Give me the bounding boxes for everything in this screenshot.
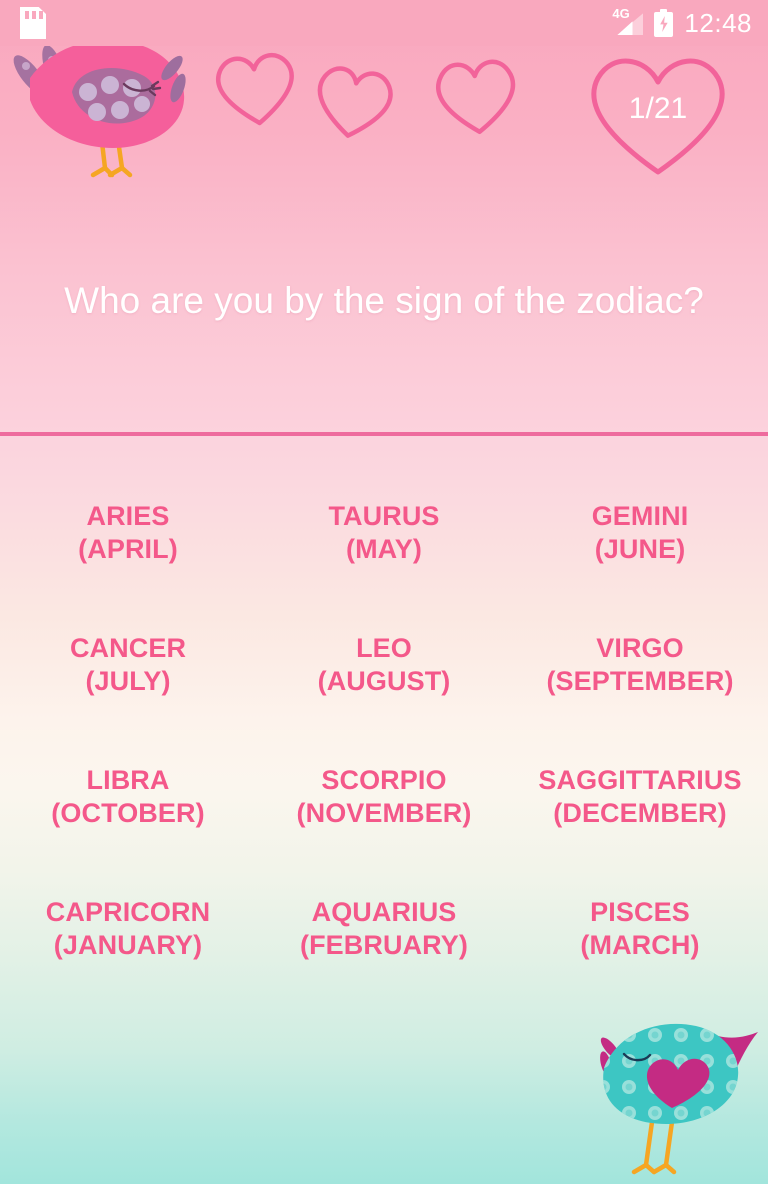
option-aries[interactable]: ARIES (APRIL) [0,500,256,566]
teal-bird-illustration [568,1000,764,1184]
option-gemini[interactable]: GEMINI (JUNE) [512,500,768,566]
status-bar-clock: 12:48 [684,10,752,36]
option-name: CANCER [6,632,250,665]
option-month: (JANUARY) [6,929,250,962]
question-title: Who are you by the sign of the zodiac? [0,275,768,327]
pink-bird-illustration [8,40,189,175]
option-name: CAPRICORN [6,896,250,929]
option-name: PISCES [518,896,762,929]
option-name: ARIES [6,500,250,533]
question-counter: 1/21 [584,92,732,126]
option-name: LEO [262,632,506,665]
option-month: (MAY) [262,533,506,566]
option-month: (JULY) [6,665,250,698]
heart-outline-icon [436,60,517,135]
option-name: GEMINI [518,500,762,533]
option-name: AQUARIUS [262,896,506,929]
option-virgo[interactable]: VIRGO (SEPTEMBER) [512,632,768,698]
option-leo[interactable]: LEO (AUGUST) [256,632,512,698]
option-month: (NOVEMBER) [262,797,506,830]
status-bar: 4G 12:48 [0,0,768,46]
signal-bars-icon: 4G [613,9,643,37]
option-aquarius[interactable]: AQUARIUS (FEBRUARY) [256,896,512,962]
option-name: TAURUS [262,500,506,533]
option-taurus[interactable]: TAURUS (MAY) [256,500,512,566]
option-name: SAGGITTARIUS [518,764,762,797]
network-type-label: 4G [612,7,629,20]
answer-options-grid: ARIES (APRIL) TAURUS (MAY) GEMINI (JUNE)… [0,500,768,962]
status-bar-right-cluster: 4G 12:48 [613,9,752,37]
option-month: (OCTOBER) [6,797,250,830]
option-cancer[interactable]: CANCER (JULY) [0,632,256,698]
heart-outline-icon [216,53,296,127]
option-scorpio[interactable]: SCORPIO (NOVEMBER) [256,764,512,830]
option-month: (MARCH) [518,929,762,962]
option-saggittarius[interactable]: SAGGITTARIUS (DECEMBER) [512,764,768,830]
heart-outline-icon [313,66,393,142]
answer-options-panel: ARIES (APRIL) TAURUS (MAY) GEMINI (JUNE)… [0,436,768,1184]
sd-card-icon [20,7,46,39]
option-name: SCORPIO [262,764,506,797]
option-pisces[interactable]: PISCES (MARCH) [512,896,768,962]
option-month: (FEBRUARY) [262,929,506,962]
header-banner: 1/21 Who are you by the sign of the zodi… [0,0,768,434]
option-month: (AUGUST) [262,665,506,698]
battery-charging-icon [654,9,673,37]
header-divider [0,432,768,436]
option-month: (JUNE) [518,533,762,566]
option-name: LIBRA [6,764,250,797]
option-name: VIRGO [518,632,762,665]
option-month: (SEPTEMBER) [518,665,762,698]
option-capricorn[interactable]: CAPRICORN (JANUARY) [0,896,256,962]
option-libra[interactable]: LIBRA (OCTOBER) [0,764,256,830]
option-month: (DECEMBER) [518,797,762,830]
option-month: (APRIL) [6,533,250,566]
